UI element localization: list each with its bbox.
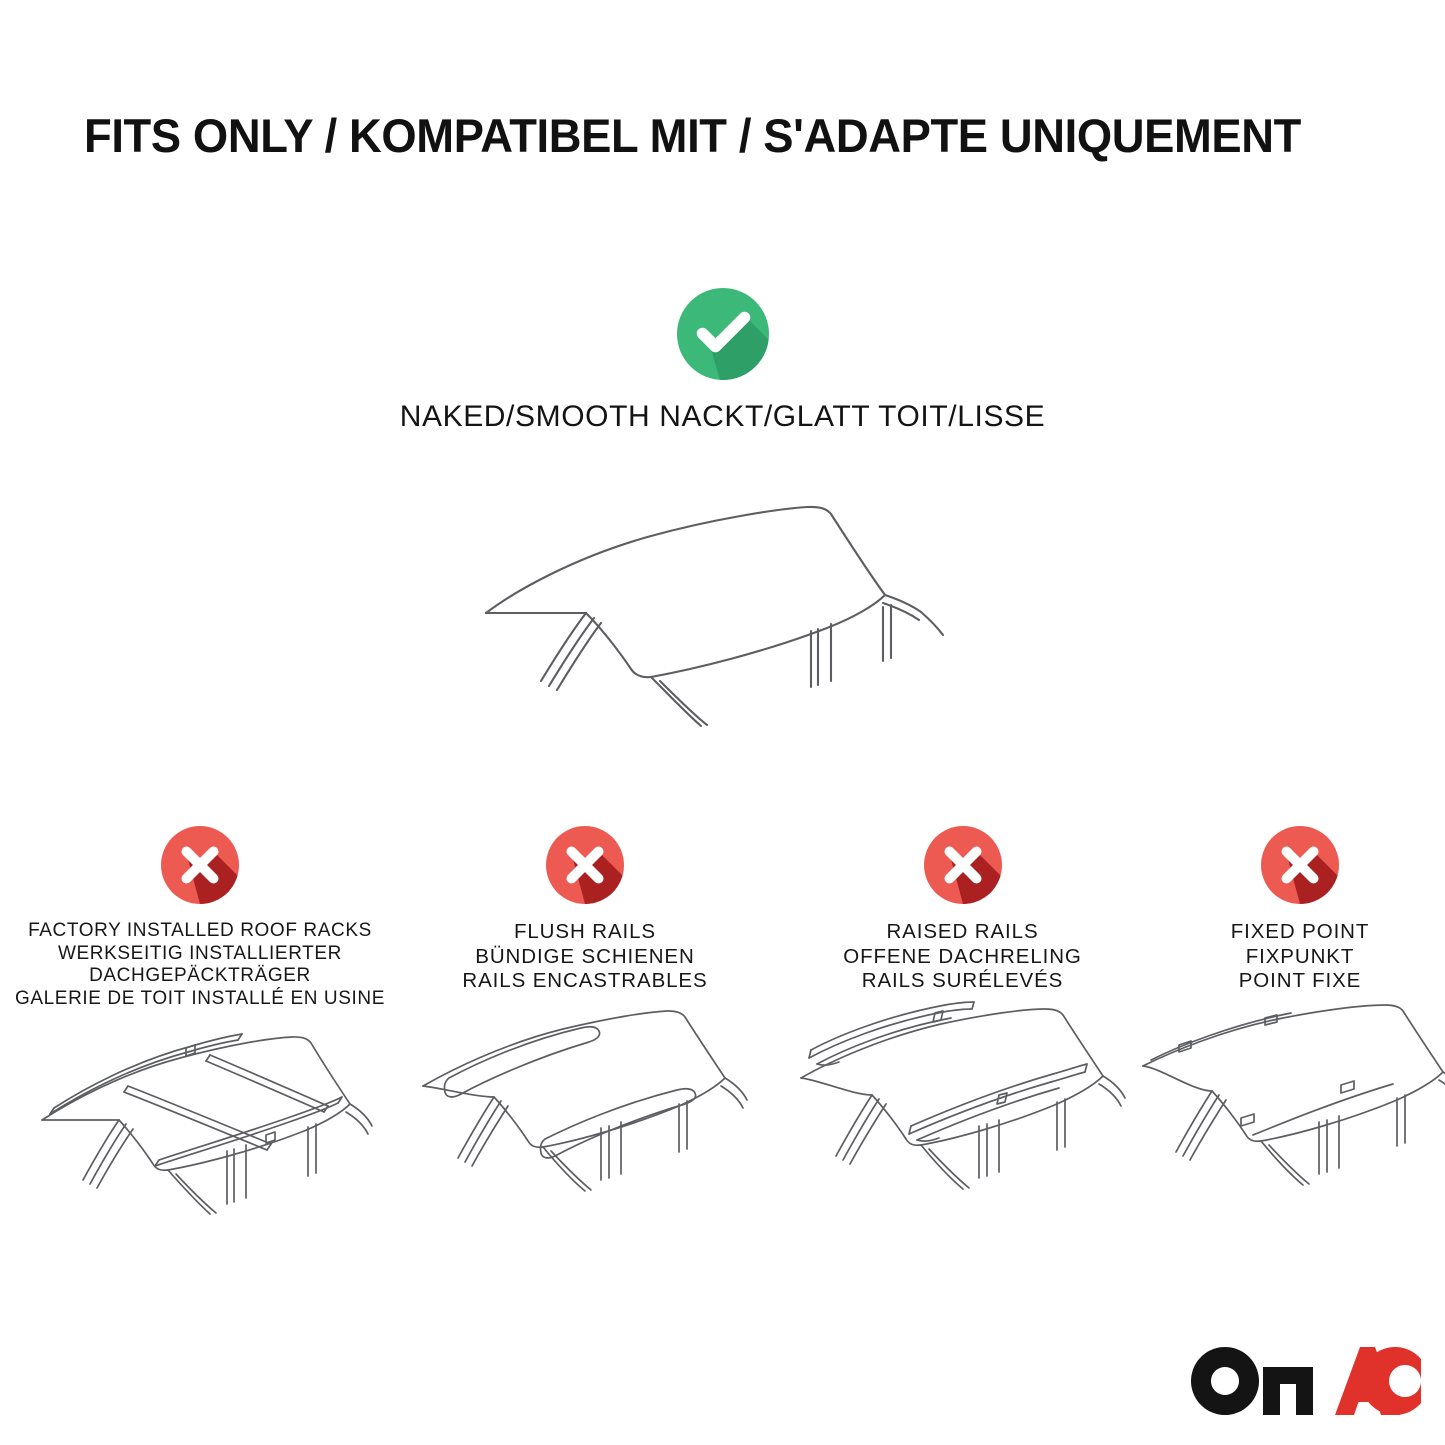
roof-with-flush-rails-drawing	[400, 1008, 770, 1223]
green-check-circle-icon	[677, 288, 769, 380]
incompatible-item-flush-rails: FLUSH RAILS BÜNDIGE SCHIENEN RAILS ENCAS…	[400, 826, 770, 1223]
smooth-car-roof-drawing	[455, 495, 1015, 755]
roof-with-factory-rack-crossbars-drawing	[0, 1024, 400, 1239]
incompatible-item-fixed-point: FIXED POINT FIXPUNKT POINT FIXE	[1155, 826, 1445, 1223]
incompatible-item-label: FACTORY INSTALLED ROOF RACKS WERKSEITIG …	[15, 920, 385, 1010]
incompatible-item-raised-rails: RAISED RAILS OFFENE DACHRELING RAILS SUR…	[770, 826, 1155, 1223]
incompatible-item-label: FIXED POINT FIXPUNKT POINT FIXE	[1231, 920, 1370, 994]
page-title: FITS ONLY / KOMPATIBEL MIT / S'ADAPTE UN…	[84, 108, 1301, 164]
red-x-circle-icon	[1261, 826, 1339, 904]
red-x-circle-icon	[924, 826, 1002, 904]
omac-logo	[1189, 1345, 1421, 1417]
incompatible-item-factory-installed-roof-racks: FACTORY INSTALLED ROOF RACKS WERKSEITIG …	[0, 826, 400, 1239]
red-x-circle-icon	[161, 826, 239, 904]
compatible-label: NAKED/SMOOTH NACKT/GLATT TOIT/LISSE	[0, 400, 1445, 434]
omac-logo-letter-o	[1191, 1347, 1259, 1415]
omac-logo-letter-m	[1263, 1367, 1313, 1415]
incompatible-row: FACTORY INSTALLED ROOF RACKS WERKSEITIG …	[0, 826, 1445, 1239]
compatible-section: NAKED/SMOOTH NACKT/GLATT TOIT/LISSE	[0, 288, 1445, 434]
roof-with-fixed-points-drawing	[1155, 1008, 1445, 1223]
incompatible-item-label: FLUSH RAILS BÜNDIGE SCHIENEN RAILS ENCAS…	[462, 920, 707, 994]
roof-with-raised-rails-drawing	[770, 1008, 1155, 1223]
incompatible-item-label: RAISED RAILS OFFENE DACHRELING RAILS SUR…	[843, 920, 1082, 994]
red-x-circle-icon	[546, 826, 624, 904]
